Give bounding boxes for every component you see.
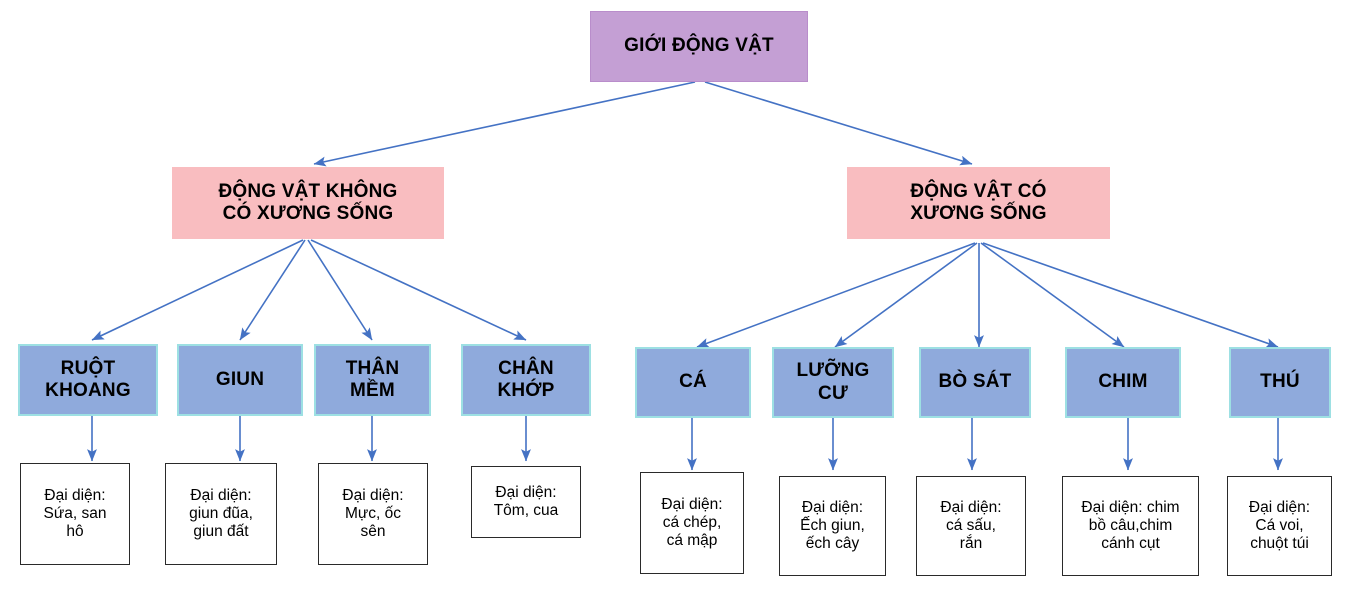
line-3: hô [66,523,83,540]
line-2: Mực, ốc [345,505,401,522]
node-than-mem-label: THÂN MỀM [316,358,429,403]
example-box-than-mem[interactable]: Đại diện: Mực, ốc sên [318,463,428,565]
example-box-bo-sat[interactable]: Đại diện: cá sấu, rắn [916,476,1026,576]
diagram-canvas: GIỚI ĐỘNG VẬT ĐỘNG VẬT KHÔNG CÓ XƯƠNG SỐ… [0,0,1350,593]
line-1: Đại diện: [1249,499,1310,516]
node-luong-cu[interactable]: LƯỠNG CƯ [772,347,894,418]
line-2: CÓ XƯƠNG SỐNG [223,203,394,224]
connector-inv-to-than-mem [308,240,372,340]
line-2: CƯ [818,383,848,404]
node-dong-vat-co-xuong-song[interactable]: ĐỘNG VẬT CÓ XƯƠNG SỐNG [847,167,1110,239]
node-ruot-khoang[interactable]: RUỘT KHOANG [18,344,158,416]
line-1: Đại diện: [44,487,105,504]
example-box-chim-label: Đại diện: chim bồ câu,chim cánh cụt [1063,499,1198,554]
line-2: XƯƠNG SỐNG [910,203,1046,224]
connector-ver-to-ca [697,243,975,347]
line-3: ếch cây [806,535,859,552]
line-1: ĐỘNG VẬT CÓ [910,181,1046,202]
line-2: MỀM [350,380,395,401]
line-2: cá sấu, [946,517,996,534]
connector-ver-to-luong-cu [835,243,977,347]
node-chan-khop[interactable]: CHÂN KHỚP [461,344,591,416]
node-gioi-dong-vat-label: GIỚI ĐỘNG VẬT [591,35,807,57]
connector-inv-to-chan-khop [311,240,526,340]
line-3: cá mập [667,532,718,549]
node-ca[interactable]: CÁ [635,347,751,418]
line-3: sên [361,523,386,540]
connector-root-to-vertebrates [705,82,972,164]
line-1: Đại diện: [190,487,251,504]
node-luong-cu-label: LƯỠNG CƯ [774,360,892,405]
example-box-luong-cu-label: Đại diện: Ếch giun, ếch cây [780,499,885,554]
example-box-giun-label: Đại diện: giun đũa, giun đất [166,487,276,542]
example-box-ca-label: Đại diện: cá chép, cá mập [641,496,743,551]
node-bo-sat-label: BÒ SÁT [921,371,1029,393]
node-dong-vat-khong-co-xuong-song[interactable]: ĐỘNG VẬT KHÔNG CÓ XƯƠNG SỐNG [172,167,444,239]
example-box-giun[interactable]: Đại diện: giun đũa, giun đất [165,463,277,565]
line-2: KHOANG [45,380,131,401]
node-chim[interactable]: CHIM [1065,347,1181,418]
example-box-chan-khop[interactable]: Đại diện: Tôm, cua [471,466,581,538]
line-3: giun đất [193,523,248,540]
line-1: Đại diện: [940,499,1001,516]
line-3: chuột túi [1250,535,1309,552]
example-box-ruot-khoang[interactable]: Đại diện: Sứa, san hô [20,463,130,565]
line-1: Đại diện: [802,499,863,516]
node-ruot-khoang-label: RUỘT KHOANG [20,358,156,403]
node-dong-vat-co-xuong-song-label: ĐỘNG VẬT CÓ XƯƠNG SỐNG [848,181,1109,226]
node-giun[interactable]: GIUN [177,344,303,416]
example-box-ruot-khoang-label: Đại diện: Sứa, san hô [21,487,129,542]
node-ca-label: CÁ [637,371,749,393]
connector-ver-to-thu [983,243,1278,347]
connector-inv-to-ruot-khoang [92,240,303,340]
node-dong-vat-khong-co-xuong-song-label: ĐỘNG VẬT KHÔNG CÓ XƯƠNG SỐNG [173,181,443,226]
line-2: giun đũa, [189,505,253,522]
line-3: cánh cụt [1101,535,1160,552]
line-2: Tôm, cua [494,502,559,519]
line-1: ĐỘNG VẬT KHÔNG [218,181,397,202]
line-1: Đại diện: chim [1081,499,1179,516]
example-box-thu[interactable]: Đại diện: Cá voi, chuột túi [1227,476,1332,576]
line-1: Đại diện: [342,487,403,504]
connector-root-to-invertebrates [314,82,695,164]
example-box-than-mem-label: Đại diện: Mực, ốc sên [319,487,427,542]
line-2: Cá voi, [1255,517,1303,534]
example-box-luong-cu[interactable]: Đại diện: Ếch giun, ếch cây [779,476,886,576]
line-1: THÂN [346,358,400,379]
example-box-thu-label: Đại diện: Cá voi, chuột túi [1228,499,1331,554]
line-2: Sứa, san [44,505,107,522]
node-chan-khop-label: CHÂN KHỚP [463,358,589,403]
line-2: Ếch giun, [800,517,865,534]
example-box-ca[interactable]: Đại diện: cá chép, cá mập [640,472,744,574]
node-bo-sat[interactable]: BÒ SÁT [919,347,1031,418]
line-1: Đại diện: [661,496,722,513]
node-gioi-dong-vat[interactable]: GIỚI ĐỘNG VẬT [590,11,808,82]
line-1: RUỘT [61,358,116,379]
line-1: CHÂN [498,358,554,379]
node-chim-label: CHIM [1067,371,1179,393]
line-2: cá chép, [663,514,722,531]
line-1: Đại diện: [495,484,556,501]
node-thu-label: THÚ [1231,371,1329,393]
node-than-mem[interactable]: THÂN MỀM [314,344,431,416]
node-thu[interactable]: THÚ [1229,347,1331,418]
line-3: rắn [960,535,982,552]
line-2: KHỚP [497,380,554,401]
example-box-chim[interactable]: Đại diện: chim bồ câu,chim cánh cụt [1062,476,1199,576]
node-giun-label: GIUN [179,369,301,391]
example-box-bo-sat-label: Đại diện: cá sấu, rắn [917,499,1025,554]
line-1: LƯỠNG [796,360,869,381]
example-box-chan-khop-label: Đại diện: Tôm, cua [472,484,580,521]
connector-ver-to-chim [981,243,1124,347]
line-2: bồ câu,chim [1089,517,1173,534]
